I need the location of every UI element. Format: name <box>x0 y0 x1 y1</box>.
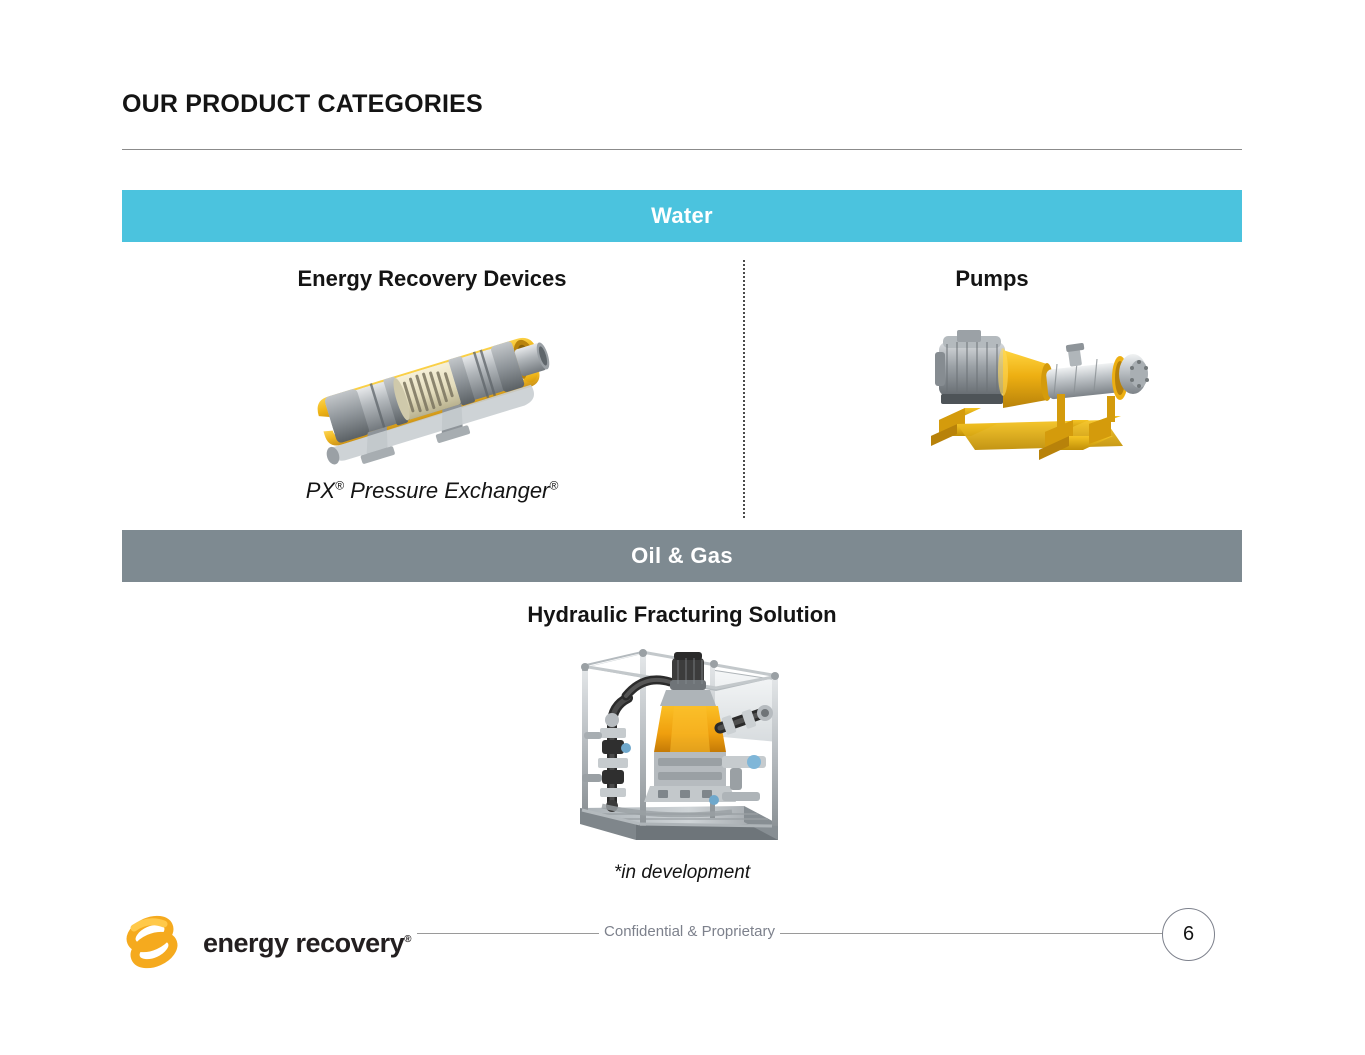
product-caption-px-mark: PX <box>306 478 335 503</box>
page-number-value: 6 <box>1183 923 1194 946</box>
product-heading-pumps: Pumps <box>742 266 1242 292</box>
page-title: OUR PRODUCT CATEGORIES <box>122 90 483 119</box>
footer-divider-right <box>780 933 1168 934</box>
section-banner-oil-and-gas-label: Oil & Gas <box>631 543 733 569</box>
page-number-badge: 6 <box>1162 908 1215 961</box>
confidentiality-notice: Confidential & Proprietary <box>599 923 780 940</box>
slide-footer: energy recovery® Confidential & Propriet… <box>62 890 1303 994</box>
high-pressure-pump-skid-image <box>917 308 1167 473</box>
registered-trademark-icon: ® <box>549 479 558 493</box>
product-caption-px-rest: Pressure Exchanger <box>344 478 549 503</box>
registered-trademark-icon: ® <box>404 934 411 945</box>
energy-recovery-loop-icon <box>120 912 190 975</box>
product-heading-hydraulic-fracturing-solution: Hydraulic Fracturing Solution <box>122 602 1242 628</box>
product-caption-px-pressure-exchanger: PX® Pressure Exchanger® <box>122 478 742 504</box>
product-caption-in-development: *in development <box>122 862 1242 884</box>
title-divider <box>122 149 1242 150</box>
hydraulic-fracturing-skid-image <box>562 640 812 855</box>
footer-divider-left <box>417 933 599 934</box>
section-banner-water: Water <box>122 190 1242 242</box>
registered-trademark-icon: ® <box>335 479 344 493</box>
brand-logo-wordmark: energy recovery® <box>203 928 411 959</box>
section-banner-oil-and-gas: Oil & Gas <box>122 530 1242 582</box>
px-pressure-exchanger-cutaway-image <box>297 308 567 473</box>
brand-logo: energy recovery® <box>120 912 411 975</box>
section-banner-water-label: Water <box>651 203 713 229</box>
column-divider-dotted <box>743 260 745 518</box>
product-heading-energy-recovery-devices: Energy Recovery Devices <box>122 266 742 292</box>
section-oil-and-gas-content: Hydraulic Fracturing Solution <box>122 590 1242 890</box>
section-water-content: Energy Recovery Devices Pumps <box>122 250 1242 530</box>
slide-canvas: OUR PRODUCT CATEGORIES Water Energy Reco… <box>62 42 1303 994</box>
